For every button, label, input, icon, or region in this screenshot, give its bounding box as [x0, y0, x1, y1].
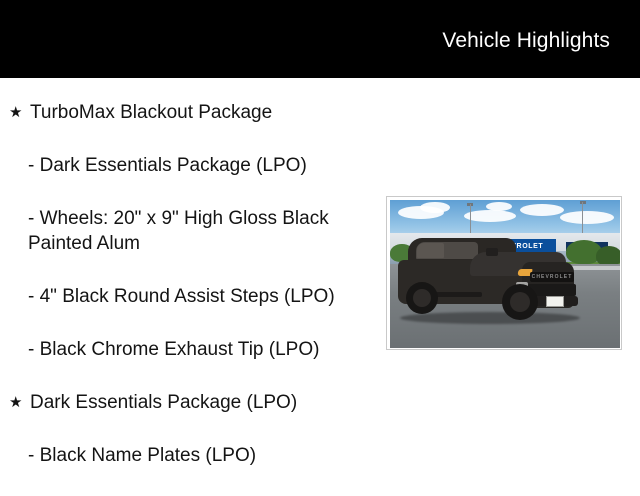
- highlight-item: ★Dark Essentials Package (LPO): [0, 390, 372, 415]
- truck-license-plate: [546, 296, 564, 307]
- highlight-item: - 4" Black Round Assist Steps (LPO): [0, 284, 372, 309]
- highlight-item: ★TurboMax Blackout Package: [0, 100, 372, 125]
- content-area: ★TurboMax Blackout Package- Dark Essenti…: [0, 78, 640, 480]
- highlight-item: - Black Name Plates (LPO): [0, 443, 372, 468]
- highlight-item-text: - 4" Black Round Assist Steps (LPO): [28, 284, 372, 309]
- vehicle-photo-frame[interactable]: CAPITOL CHEVROLET Cadillac: [386, 196, 622, 350]
- highlight-item-text: TurboMax Blackout Package: [30, 100, 372, 125]
- star-bullet-icon: ★: [9, 100, 22, 125]
- highlight-item-text: - Black Name Plates (LPO): [28, 443, 372, 468]
- highlight-item: - Dark Essentials Package (LPO): [0, 153, 372, 178]
- header-bar: Vehicle Highlights: [0, 0, 640, 78]
- truck-mirror: [486, 248, 498, 256]
- truck: CHEVROLET: [390, 200, 620, 348]
- truck-window-front: [417, 243, 444, 258]
- truck-shadow: [400, 312, 580, 324]
- vehicle-highlights-list: ★TurboMax Blackout Package- Dark Essenti…: [0, 78, 372, 496]
- truck-rim-rear: [413, 289, 431, 307]
- highlight-item: - Wheels: 20" x 9" High Gloss Black Pain…: [0, 206, 372, 256]
- highlight-item-text: - Wheels: 20" x 9" High Gloss Black Pain…: [28, 206, 372, 256]
- highlight-item-text: - Dark Essentials Package (LPO): [28, 153, 372, 178]
- truck-grille-badge: CHEVROLET: [532, 274, 573, 280]
- star-bullet-icon: ★: [9, 390, 22, 415]
- truck-grille: CHEVROLET: [530, 272, 574, 282]
- page-title: Vehicle Highlights: [442, 29, 610, 53]
- highlight-item-text: - Black Chrome Exhaust Tip (LPO): [28, 337, 372, 362]
- highlight-item: - Black Chrome Exhaust Tip (LPO): [0, 337, 372, 362]
- truck-rim-front: [510, 292, 530, 312]
- vehicle-photo: CAPITOL CHEVROLET Cadillac: [390, 200, 620, 348]
- highlight-item-text: Dark Essentials Package (LPO): [30, 390, 372, 415]
